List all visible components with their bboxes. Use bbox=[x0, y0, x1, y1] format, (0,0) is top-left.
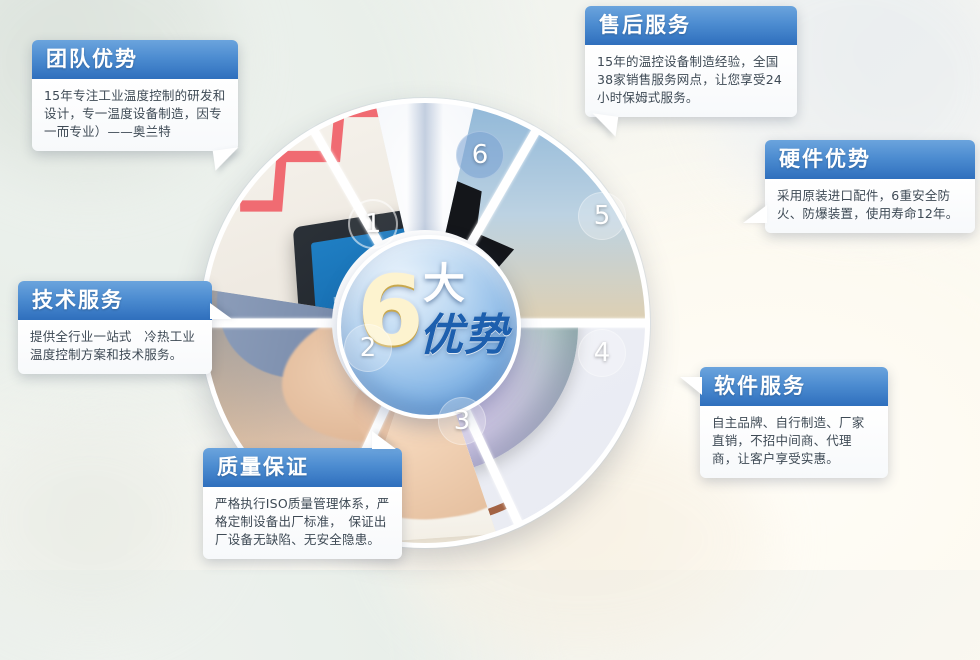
badge-advantage-word: 优势 bbox=[419, 313, 509, 359]
callout-tail-hardware bbox=[743, 205, 767, 223]
callout-body-after-sales: 15年的温控设备制造经验，全国38家销售服务网点，让您享受24小时保姆式服务。 bbox=[585, 45, 797, 117]
callout-tail-software bbox=[680, 377, 702, 395]
poster-canvas: 6 大 优势 1 2 3 4 5 6 团队优势 15年专注工业温度控制的研发和设… bbox=[0, 0, 980, 570]
segment-number-6[interactable]: 6 bbox=[456, 131, 504, 179]
callout-body-team: 15年专注工业温度控制的研发和设计，专一温度设备制造，因专一而专业）——奥兰特 bbox=[32, 79, 238, 151]
segment-number-2[interactable]: 2 bbox=[344, 324, 392, 372]
segment-number-5[interactable]: 5 bbox=[578, 192, 626, 240]
callout-technical-service[interactable]: 技术服务 提供全行业一站式 冷热工业温度控制方案和技术服务。 bbox=[18, 281, 212, 374]
callout-quality-assurance[interactable]: 质量保证 严格执行ISO质量管理体系，严格定制设备出厂标准， 保证出厂设备无缺陷… bbox=[203, 448, 402, 559]
callout-title-technical: 技术服务 bbox=[18, 281, 212, 320]
segment-number-1[interactable]: 1 bbox=[348, 199, 398, 249]
segment-number-3[interactable]: 3 bbox=[438, 397, 486, 445]
callout-tail-quality bbox=[372, 431, 396, 449]
background-blur-bottom-left bbox=[0, 410, 220, 630]
callout-title-after-sales: 售后服务 bbox=[585, 6, 797, 45]
segment-number-4[interactable]: 4 bbox=[578, 329, 626, 377]
badge-big-char: 大 bbox=[423, 263, 465, 305]
callout-title-hardware: 硬件优势 bbox=[765, 140, 975, 179]
callout-body-software: 自主品牌、自行制造、厂家直销，不招中间商、代理商，让客户享受实惠。 bbox=[700, 406, 888, 478]
callout-body-quality: 严格执行ISO质量管理体系，严格定制设备出厂标准， 保证出厂设备无缺陷、无安全隐… bbox=[203, 487, 402, 559]
callout-tail-team bbox=[213, 147, 242, 170]
callout-software-service[interactable]: 软件服务 自主品牌、自行制造、厂家直销，不招中间商、代理商，让客户享受实惠。 bbox=[700, 367, 888, 478]
callout-body-hardware: 采用原装进口配件，6重安全防火、防爆装置，使用寿命12年。 bbox=[765, 179, 975, 233]
callout-tail-after-sales bbox=[590, 113, 619, 136]
callout-hardware-advantage[interactable]: 硬件优势 采用原装进口配件，6重安全防火、防爆装置，使用寿命12年。 bbox=[765, 140, 975, 233]
callout-title-team: 团队优势 bbox=[32, 40, 238, 79]
callout-body-technical: 提供全行业一站式 冷热工业温度控制方案和技术服务。 bbox=[18, 320, 212, 374]
callout-title-software: 软件服务 bbox=[700, 367, 888, 406]
callout-tail-technical bbox=[210, 303, 232, 319]
callout-team-advantage[interactable]: 团队优势 15年专注工业温度控制的研发和设计，专一温度设备制造，因专一而专业）—… bbox=[32, 40, 238, 151]
callout-after-sales[interactable]: 售后服务 15年的温控设备制造经验，全国38家销售服务网点，让您享受24小时保姆… bbox=[585, 6, 797, 117]
callout-title-quality: 质量保证 bbox=[203, 448, 402, 487]
